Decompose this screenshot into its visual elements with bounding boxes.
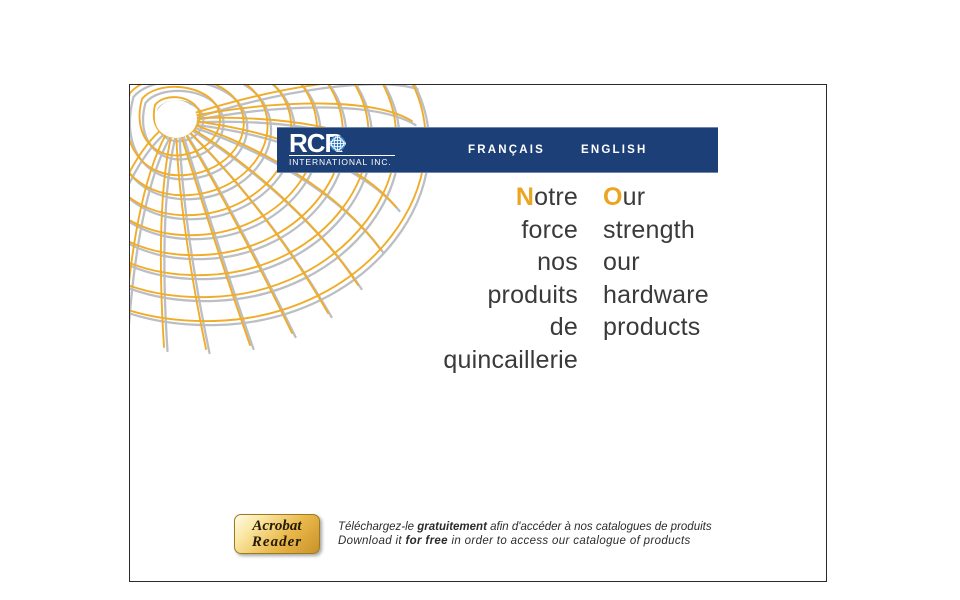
slogan-french-line-3: nos — [430, 246, 578, 279]
nav-link-francais[interactable]: FRANÇAIS — [468, 144, 545, 156]
acrobat-caption-french-bold: gratuitement — [417, 521, 487, 533]
slogan-english-initial: O — [603, 183, 623, 211]
page-frame: RCR INTERNATIONAL INC. — [129, 84, 827, 582]
slogan-french-line-2: force — [430, 214, 578, 247]
slogan-french-line-1-rest: otre — [534, 183, 578, 211]
acrobat-reader-button[interactable]: Acrobat Reader — [234, 514, 320, 554]
nav-link-english[interactable]: ENGLISH — [581, 144, 648, 156]
slogan-english: Our strength our hardware products — [603, 181, 723, 376]
acrobat-caption-english-part1: Download it — [338, 535, 405, 547]
rcr-logo[interactable]: RCR INTERNATIONAL INC. — [289, 131, 397, 169]
logo-subtitle: INTERNATIONAL INC. — [289, 155, 395, 167]
acrobat-button-line-1: Acrobat — [252, 518, 301, 534]
acrobat-caption-english: Download it for free in order to access … — [338, 534, 712, 549]
slogan-french-initial: N — [516, 183, 534, 211]
slogan-english-line-1: Our — [603, 181, 723, 214]
slogan-english-line-2: strength — [603, 214, 723, 247]
acrobat-button-line-2: Reader — [252, 534, 302, 550]
acrobat-caption-french-part2: afin d'accéder à nos catalogues de produ… — [487, 521, 712, 533]
slogan-english-line-3: our — [603, 246, 723, 279]
slogan-french-line-1: Notre — [430, 181, 578, 214]
wireframe-globe-artwork — [129, 84, 458, 363]
slogan-english-line-4: hardware — [603, 279, 723, 312]
acrobat-download-row: Acrobat Reader Téléchargez-le gratuiteme… — [234, 514, 712, 554]
language-nav: FRANÇAIS ENGLISH — [468, 144, 648, 156]
slogan-english-line-5: products — [603, 311, 723, 344]
slogan-english-line-1-rest: ur — [623, 183, 646, 211]
globe-icon — [329, 135, 346, 152]
acrobat-caption-english-part2: in order to access our catalogue of prod… — [448, 535, 691, 547]
slogan-french: Notre force nos produits de quincailleri… — [430, 181, 578, 376]
acrobat-caption-french-part1: Téléchargez-le — [338, 521, 417, 533]
acrobat-caption-french: Téléchargez-le gratuitement afin d'accéd… — [338, 520, 712, 535]
acrobat-caption-english-bold: for free — [405, 535, 447, 547]
slogan-french-line-4: produits — [430, 279, 578, 312]
slogan-french-line-6: quincaillerie — [430, 344, 578, 377]
page-root: RCR INTERNATIONAL INC. — [0, 0, 960, 600]
header-bar: RCR INTERNATIONAL INC. — [277, 127, 718, 173]
acrobat-caption: Téléchargez-le gratuitement afin d'accéd… — [338, 520, 712, 549]
slogan-french-line-5: de — [430, 311, 578, 344]
slogan-block: Notre force nos produits de quincailleri… — [430, 181, 723, 376]
